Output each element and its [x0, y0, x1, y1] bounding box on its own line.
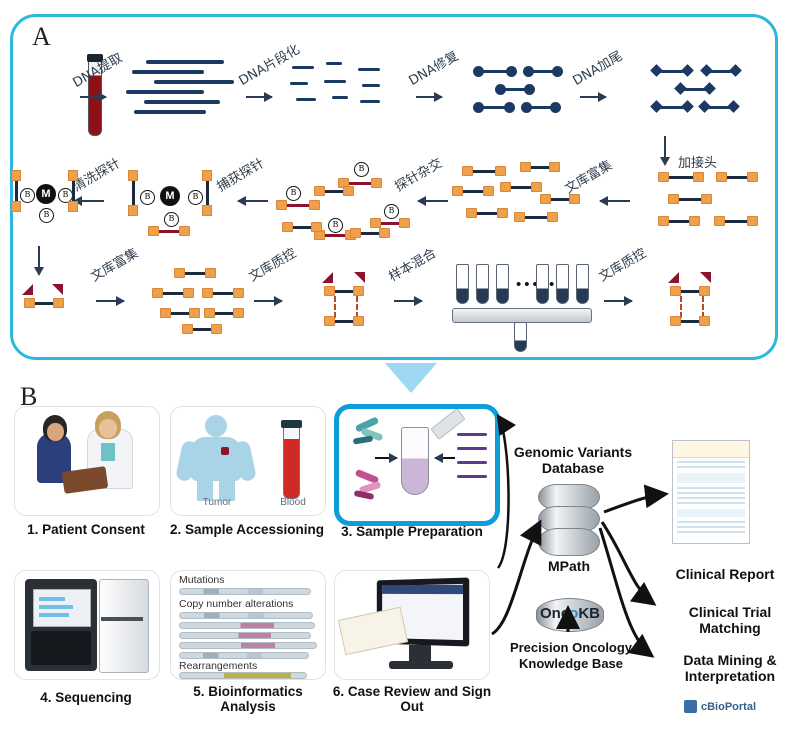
sublabel-blood: Blood — [265, 497, 321, 508]
arrow-down-adapter — [664, 136, 666, 158]
bio-header-mutations: Mutations — [179, 574, 225, 586]
knowledge-base-title: Precision Oncology Knowledge Base — [492, 640, 650, 672]
arrow-left-3 — [238, 200, 268, 202]
arrow-right-2 — [246, 96, 272, 98]
clinical-report-thumbnail[interactable] — [672, 440, 750, 544]
step-caption-4: 4. Sequencing — [14, 690, 158, 705]
dna-repaired-group — [470, 66, 560, 114]
blood-tube-icon — [283, 425, 300, 499]
arrow-left-2 — [418, 200, 448, 202]
bio-header-rearrangements: Rearrangements — [179, 660, 257, 672]
output-label-data-mining: Data Mining & Interpretation — [664, 652, 796, 684]
dna-atailed-group — [648, 66, 738, 114]
paper-report-icon — [338, 607, 408, 656]
dna-fragments-group — [288, 62, 388, 112]
step-card-sequencing[interactable] — [14, 570, 160, 680]
enriched-library-fragments — [450, 164, 580, 236]
step-caption-6: 6. Case Review and Sign Out — [330, 684, 494, 714]
step-caption-3: 3. Sample Preparation — [330, 524, 494, 539]
washed-bead-complex-group: M B B B — [14, 170, 76, 230]
arrow-right-4 — [580, 96, 606, 98]
step-caption-2: 2. Sample Accessioning — [162, 522, 332, 537]
database-name: MPath — [528, 558, 610, 574]
arrow-into-tube-right — [435, 457, 455, 459]
magnetic-bead-capture-group: M B B B — [126, 168, 216, 240]
arrow-down-row3 — [38, 246, 40, 268]
probe-hybridized-group: B B B B — [280, 160, 410, 240]
step-caption-5: 5. Bioinformatics Analysis — [168, 684, 328, 714]
dna-strands-group — [124, 58, 234, 108]
oncokb-logo-text: OncoKB — [536, 605, 604, 622]
panel-a-label: A — [32, 22, 51, 52]
tumor-marker-icon — [221, 447, 229, 455]
arrow-left-4 — [74, 200, 104, 202]
arrow-right-6 — [254, 300, 282, 302]
sample-pooling-rack: ••••• — [448, 264, 594, 340]
protein-teal-icon — [353, 417, 387, 447]
output-label-clinical-trial-matching: Clinical Trial Matching — [668, 604, 792, 636]
step-card-bioinformatics[interactable]: Mutations Copy number alterations Rearra… — [170, 570, 326, 680]
oncokb-logo-post: KB — [578, 605, 600, 622]
sample-tube-icon — [401, 427, 429, 495]
arrow-left-1 — [600, 200, 630, 202]
arrow-right-3 — [416, 96, 442, 98]
step-card-case-review[interactable] — [334, 570, 490, 680]
bio-header-cna: Copy number alterations — [179, 598, 293, 610]
enriched-library-row3 — [148, 268, 248, 332]
adapter-ligated-fragments — [650, 172, 760, 228]
step-card-sample-preparation[interactable] — [334, 404, 500, 526]
oncokb-logo-o: o — [569, 605, 578, 622]
cbioportal-logo[interactable]: cBioPortal — [684, 700, 784, 713]
panel-connector-arrow — [385, 363, 437, 393]
arrow-right-1 — [80, 96, 106, 98]
database-title: Genomic Variants Database — [500, 444, 646, 476]
sublabel-tumor: Tumor — [187, 497, 247, 508]
mpath-database-cylinder — [538, 484, 600, 556]
step-label-adapter-ligation: 加接头 — [678, 152, 717, 171]
y-adapter-library-1 — [16, 284, 74, 320]
output-label-clinical-report: Clinical Report — [660, 566, 790, 582]
step-caption-1: 1. Patient Consent — [14, 522, 158, 537]
protein-magenta-icon — [353, 471, 387, 501]
oncokb-logo-pre: Onc — [540, 605, 569, 622]
cbioportal-icon — [684, 700, 697, 713]
arrow-right-8 — [604, 300, 632, 302]
step-card-sample-accessioning[interactable]: Tumor Blood — [170, 406, 326, 516]
library-qc-product-2 — [664, 272, 722, 328]
arrow-right-7 — [394, 300, 422, 302]
cbioportal-label: cBioPortal — [701, 701, 756, 713]
library-qc-product-1 — [318, 272, 376, 328]
arrow-into-tube-left — [375, 457, 397, 459]
step-card-patient-consent[interactable] — [14, 406, 160, 516]
arrow-right-5 — [96, 300, 124, 302]
